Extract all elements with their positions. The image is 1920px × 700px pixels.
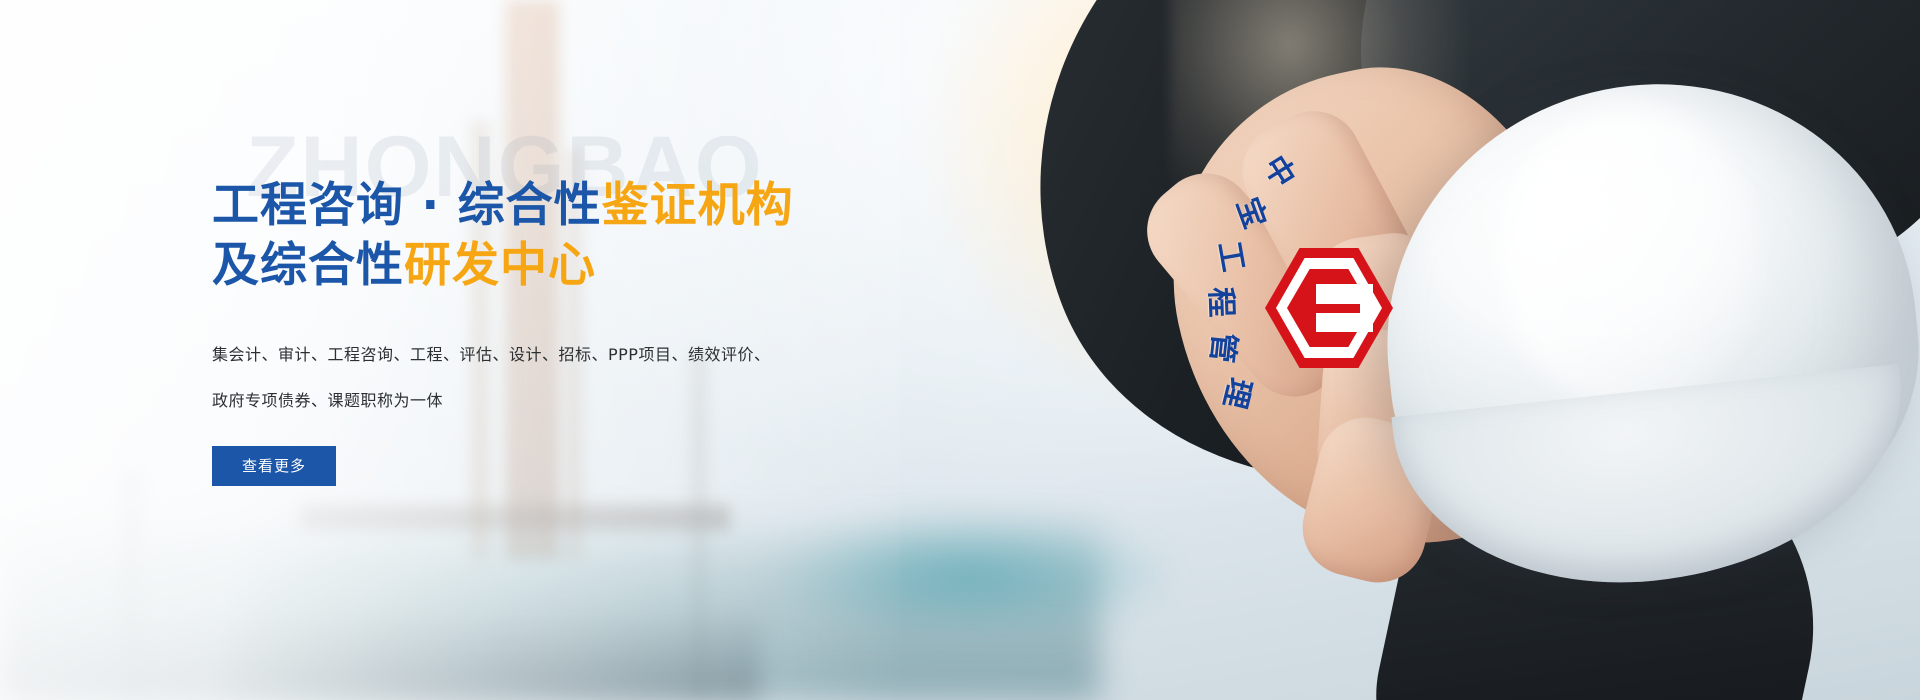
hexagon-bar bbox=[1309, 304, 1360, 313]
headline-line-2: 及综合性研发中心 bbox=[212, 236, 972, 296]
helmet-char-5: 理 bbox=[1215, 374, 1265, 414]
helmet-char-2: 工 bbox=[1210, 237, 1259, 274]
helmet-char-4: 管 bbox=[1203, 331, 1250, 365]
banner-description: 集会计、审计、工程咨询、工程、评估、设计、招标、PPP项目、绩效评价、 政府专项… bbox=[212, 332, 972, 424]
headline-line-1-blue: 工程咨询 · 综合性 bbox=[212, 178, 602, 233]
hero-banner: 中 宝 工 程 管 理 ZHONGBAO 工程咨询 · 综合性鉴证机构 及综合性… bbox=[0, 0, 1920, 700]
helmet-char-0: 中 bbox=[1255, 146, 1308, 195]
helmet-char-3: 程 bbox=[1201, 286, 1246, 318]
page-title: 工程咨询 · 综合性鉴证机构 及综合性研发中心 bbox=[212, 176, 972, 296]
description-line-2: 政府专项债券、课题职称为一体 bbox=[212, 378, 972, 424]
description-line-1: 集会计、审计、工程咨询、工程、评估、设计、招标、PPP项目、绩效评价、 bbox=[212, 332, 972, 378]
headline-line-1: 工程咨询 · 综合性鉴证机构 bbox=[212, 176, 972, 236]
helmet-char-1: 宝 bbox=[1228, 190, 1280, 233]
headline-line-1-accent: 鉴证机构 bbox=[602, 178, 794, 233]
view-more-button[interactable]: 查看更多 bbox=[212, 446, 336, 486]
banner-copy: ZHONGBAO 工程咨询 · 综合性鉴证机构 及综合性研发中心 集会计、审计、… bbox=[212, 118, 972, 486]
headline-line-2-accent: 研发中心 bbox=[404, 238, 596, 293]
zhongbao-hexagon-logo-icon bbox=[1265, 248, 1393, 368]
headline-line-2-blue: 及综合性 bbox=[212, 238, 404, 293]
helmet-highlight bbox=[1500, 110, 1760, 410]
